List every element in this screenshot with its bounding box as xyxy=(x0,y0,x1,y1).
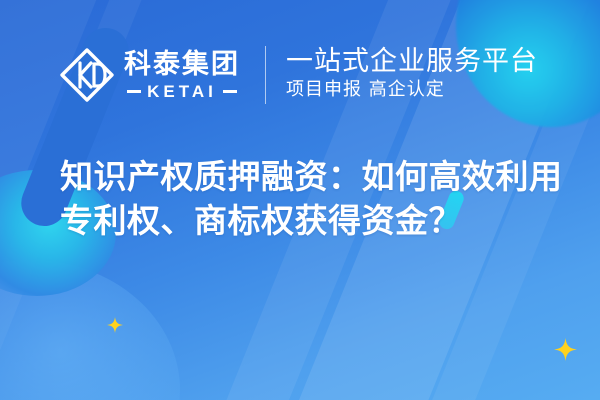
brand-name-cn: 科泰集团 xyxy=(124,51,240,78)
wordmark-rule-right xyxy=(223,90,237,93)
headline: 知识产权质押融资：如何高效利用 专利权、商标权获得资金？ xyxy=(60,155,580,243)
sparkle-icon xyxy=(554,338,577,361)
headline-line-2: 专利权、商标权获得资金？ xyxy=(60,199,580,243)
ketai-diamond-logo-icon xyxy=(58,46,116,104)
promo-banner: 科泰集团 KETAI 一站式企业服务平台 项目申报 高企认定 知识产权质押融资：… xyxy=(0,0,600,400)
brand-name-en-row: KETAI xyxy=(124,83,240,100)
brand-name-en: KETAI xyxy=(147,83,217,100)
slogan-primary: 一站式企业服务平台 xyxy=(286,47,538,76)
slogan-block: 一站式企业服务平台 项目申报 高企认定 xyxy=(286,47,538,102)
slogan-secondary: 项目申报 高企认定 xyxy=(286,77,538,103)
sparkle-icon xyxy=(107,317,123,333)
brand-logo: 科泰集团 KETAI xyxy=(58,46,240,104)
banner-header: 科泰集团 KETAI 一站式企业服务平台 项目申报 高企认定 xyxy=(0,36,600,114)
header-divider xyxy=(265,46,266,104)
wordmark-rule-left xyxy=(127,90,141,93)
headline-line-1: 知识产权质押融资：如何高效利用 xyxy=(60,155,580,199)
brand-wordmark: 科泰集团 KETAI xyxy=(124,51,240,100)
